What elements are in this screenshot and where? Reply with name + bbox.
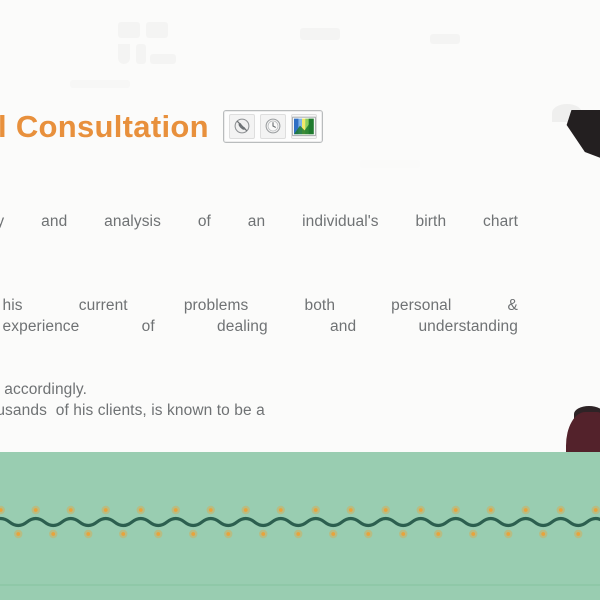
footer-divider-line	[0, 584, 600, 586]
icon-toolbar[interactable]	[223, 110, 323, 143]
title-row: l Consultation	[0, 104, 358, 148]
background-watermark-shape	[136, 44, 146, 64]
clock-icon[interactable]	[260, 114, 286, 139]
paragraph-two-line-2: , through thousands of his clients, is k…	[0, 397, 518, 425]
page-title: l Consultation	[0, 111, 209, 142]
paragraph-two-line-1: wide experience of dealing and understan…	[0, 313, 518, 341]
no-phone-icon[interactable]	[229, 114, 255, 139]
background-watermark-shape	[430, 34, 460, 44]
background-watermark-shape	[70, 80, 130, 88]
paragraph-one-line-1: pth study and analysis of an individual'…	[0, 208, 518, 236]
slide-canvas: l Consultation	[0, 0, 600, 600]
background-watermark-shape	[150, 54, 176, 64]
background-watermark-shape	[118, 22, 140, 38]
background-watermark-shape	[118, 44, 130, 64]
background-watermark-shape	[300, 28, 340, 40]
background-watermark-shape	[146, 22, 168, 38]
wave-ornament	[0, 500, 600, 544]
picture-icon[interactable]	[291, 114, 317, 139]
